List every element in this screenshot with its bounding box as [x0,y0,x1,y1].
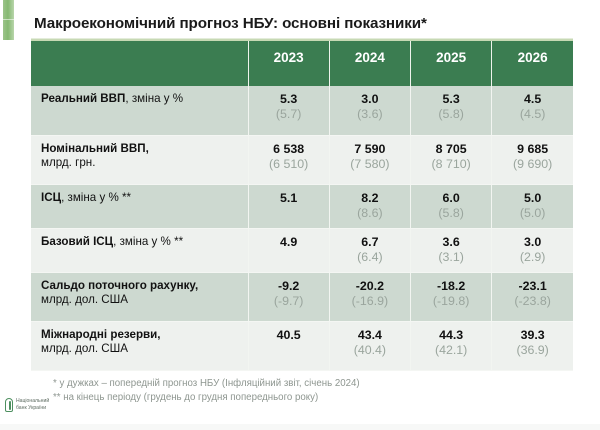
cell-value: 9 685 [496,142,569,157]
row-unit: млрд. дол. США [41,293,128,306]
cell-value: 3.0 [496,235,569,250]
header-spacer-cell-label [31,73,248,86]
row-name: ІСЦ [41,191,61,204]
header-corner-cell [31,41,248,73]
cell-value: 3.6 [415,235,487,250]
row-unit: , зміна у % [125,92,183,105]
cell-cpi-2023: 5.1 [248,184,329,228]
cell-value: 6.0 [415,191,487,206]
row-unit: млрд. дол. США [41,342,128,355]
row-name: Базовий ІСЦ [41,235,113,248]
cell-previous-value: (5.7) [253,107,325,122]
cell-value: 44.3 [415,328,487,343]
cell-real-gdp-2025: 5.3 (5.8) [411,86,492,135]
cell-current-account-2025: -18.2 (-19.8) [411,272,492,321]
cell-previous-value: (7 580) [334,157,406,172]
forecast-table: 2023 2024 2025 2026 Реальний ВВП, зміна … [31,41,573,371]
cell-previous-value: (3.6) [334,107,406,122]
row-label-current-account: Сальдо поточного рахунку, млрд. дол. США [31,272,248,321]
table-row: Реальний ВВП, зміна у % 5.3 (5.7) 3.0 (3… [31,86,573,135]
cell-value: -20.2 [334,279,406,294]
cell-value: 7 590 [334,142,406,157]
cell-value: 5.1 [253,191,325,206]
cell-international-reserves-2026: 39.3 (36.9) [492,321,573,370]
cell-previous-value: (6.4) [334,250,406,265]
slide-canvas: Макроекономічний прогноз НБУ: основні по… [0,0,600,430]
row-label-cpi: ІСЦ, зміна у % ** [31,184,248,228]
table-row: Базовий ІСЦ, зміна у % ** 4.9 6.7 (6.4) … [31,228,573,272]
decorative-green-bar [3,0,14,40]
nbu-emblem-icon [5,398,13,412]
cell-core-cpi-2026: 3.0 (2.9) [492,228,573,272]
row-label-nominal-gdp: Номінальний ВВП, млрд. грн. [31,135,248,184]
cell-value: 5.3 [253,92,325,107]
cell-previous-value: (-19.8) [415,294,487,309]
row-name: Міжнародні резерви, [41,328,161,341]
header-spacer-cell-2026 [492,73,573,86]
page-title: Макроекономічний прогноз НБУ: основні по… [34,15,574,32]
cell-value: -18.2 [415,279,487,294]
cell-previous-value: (5.0) [496,206,569,221]
footnote-double-asterisk: ** на кінець періоду (грудень до грудня … [53,391,573,405]
cell-previous-value: (5.8) [415,107,487,122]
cell-value: 6.7 [334,235,406,250]
cell-current-account-2024: -20.2 (-16.9) [329,272,410,321]
cell-value: 5.3 [415,92,487,107]
cell-cpi-2026: 5.0 (5.0) [492,184,573,228]
nbu-logo: Національний банк України [5,398,49,412]
row-unit: , зміна у % ** [113,235,183,248]
cell-core-cpi-2023: 4.9 [248,228,329,272]
cell-real-gdp-2024: 3.0 (3.6) [329,86,410,135]
table-row: ІСЦ, зміна у % ** 5.1 8.2 (8.6) 6.0 (5.8… [31,184,573,228]
row-label-core-cpi: Базовий ІСЦ, зміна у % ** [31,228,248,272]
table-row: Міжнародні резерви, млрд. дол. США 40.5 … [31,321,573,370]
cell-core-cpi-2024: 6.7 (6.4) [329,228,410,272]
footnotes: * у дужках – попередній прогноз НБУ (Інф… [53,377,573,404]
cell-previous-value: (8.6) [334,206,406,221]
table-header: 2023 2024 2025 2026 [31,41,573,86]
footnote-single-asterisk: * у дужках – попередній прогноз НБУ (Інф… [53,377,573,391]
row-unit: , зміна у % ** [61,191,131,204]
cell-cpi-2024: 8.2 (8.6) [329,184,410,228]
nbu-logo-line2: банк України [16,405,49,412]
column-header-2025[interactable]: 2025 [411,41,492,73]
cell-previous-value: (2.9) [496,250,569,265]
header-spacer-cell-2025 [411,73,492,86]
table-row: Сальдо поточного рахунку, млрд. дол. США… [31,272,573,321]
cell-core-cpi-2025: 3.6 (3.1) [411,228,492,272]
cell-previous-value: (4.5) [496,107,569,122]
cell-value: 6 538 [253,142,325,157]
cell-international-reserves-2024: 43.4 (40.4) [329,321,410,370]
cell-previous-value: (42.1) [415,343,487,358]
cell-nominal-gdp-2026: 9 685 (9 690) [492,135,573,184]
cell-value: 3.0 [334,92,406,107]
header-row: 2023 2024 2025 2026 [31,41,573,73]
cell-previous-value: (8 710) [415,157,487,172]
cell-international-reserves-2023: 40.5 [248,321,329,370]
cell-previous-value: (36.9) [496,343,569,358]
row-label-real-gdp: Реальний ВВП, зміна у % [31,86,248,135]
cell-value: -23.1 [496,279,569,294]
cell-value: 4.9 [253,235,325,250]
cell-previous-value: (-9.7) [253,294,325,309]
cell-previous-value: (5.8) [415,206,487,221]
table-row: Номінальний ВВП, млрд. грн. 6 538 (6 510… [31,135,573,184]
cell-value: 5.0 [496,191,569,206]
row-unit: млрд. грн. [41,156,95,169]
cell-previous-value: (-16.9) [334,294,406,309]
cell-cpi-2025: 6.0 (5.8) [411,184,492,228]
cell-current-account-2026: -23.1 (-23.8) [492,272,573,321]
cell-real-gdp-2026: 4.5 (4.5) [492,86,573,135]
cell-value: 40.5 [253,328,325,343]
cell-previous-value: (40.4) [334,343,406,358]
cell-previous-value: (6 510) [253,157,325,172]
cell-value: 4.5 [496,92,569,107]
row-name: Реальний ВВП [41,92,125,105]
cell-nominal-gdp-2023: 6 538 (6 510) [248,135,329,184]
nbu-logo-line1: Національний [16,398,49,405]
cell-value: 8.2 [334,191,406,206]
cell-real-gdp-2023: 5.3 (5.7) [248,86,329,135]
bottom-edge-strip [0,424,600,430]
header-spacer-row [31,73,573,86]
cell-nominal-gdp-2025: 8 705 (8 710) [411,135,492,184]
row-name: Номінальний ВВП, [41,142,149,155]
bar-seam [3,19,14,20]
cell-previous-value: (9 690) [496,157,569,172]
cell-current-account-2023: -9.2 (-9.7) [248,272,329,321]
cell-value: 39.3 [496,328,569,343]
cell-previous-value: (3.1) [415,250,487,265]
cell-international-reserves-2025: 44.3 (42.1) [411,321,492,370]
header-spacer-cell-2024 [329,73,410,86]
cell-value: 8 705 [415,142,487,157]
nbu-logo-text: Національний банк України [16,398,49,411]
cell-value: -9.2 [253,279,325,294]
row-label-international-reserves: Міжнародні резерви, млрд. дол. США [31,321,248,370]
header-spacer-cell-2023 [248,73,329,86]
cell-previous-value: (-23.8) [496,294,569,309]
table-body: Реальний ВВП, зміна у % 5.3 (5.7) 3.0 (3… [31,86,573,370]
column-header-2026[interactable]: 2026 [492,41,573,73]
cell-value: 43.4 [334,328,406,343]
column-header-2024[interactable]: 2024 [329,41,410,73]
cell-nominal-gdp-2024: 7 590 (7 580) [329,135,410,184]
row-name: Сальдо поточного рахунку, [41,279,198,292]
column-header-2023[interactable]: 2023 [248,41,329,73]
